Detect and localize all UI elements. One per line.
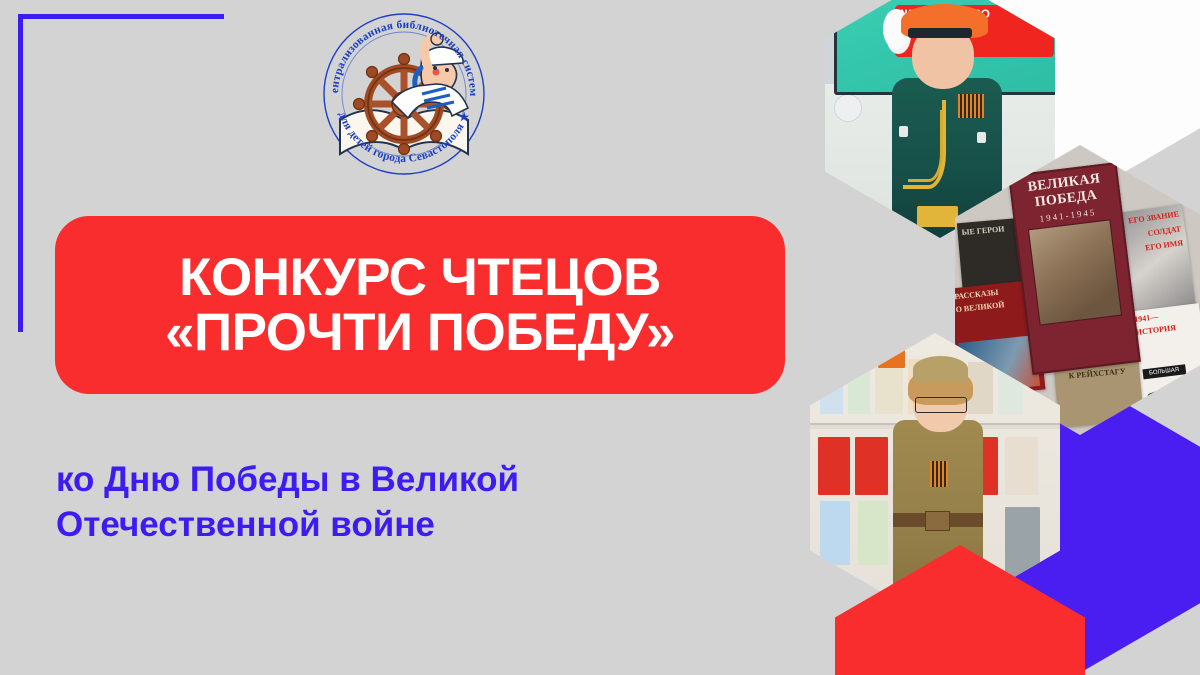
poster-canvas: Централизованная библиотечная система дл…: [0, 0, 1200, 675]
title-line-2: «ПРОЧТИ ПОБЕДУ»: [165, 305, 675, 360]
title-banner: КОНКУРС ЧТЕЦОВ «ПРОЧТИ ПОБЕДУ»: [55, 216, 785, 394]
library-logo: Централизованная библиотечная система дл…: [318, 8, 490, 180]
subtitle: ко Дню Победы в Великой Отечественной во…: [56, 458, 676, 548]
title-line-1: КОНКУРС ЧТЕЦОВ: [179, 250, 661, 305]
subtitle-line-2: Отечественной войне: [56, 503, 676, 548]
frame-left-line: [18, 14, 23, 332]
subtitle-line-1: ко Дню Победы в Великой: [56, 458, 676, 503]
hexagon-collage: Конкурс чтецов ЖИВОЕ СЛОВО ПОБЕДА!»: [810, 0, 1200, 675]
frame-top-line: [18, 14, 224, 19]
book-white-tag: БОЛЬШАЯ: [1142, 365, 1186, 380]
